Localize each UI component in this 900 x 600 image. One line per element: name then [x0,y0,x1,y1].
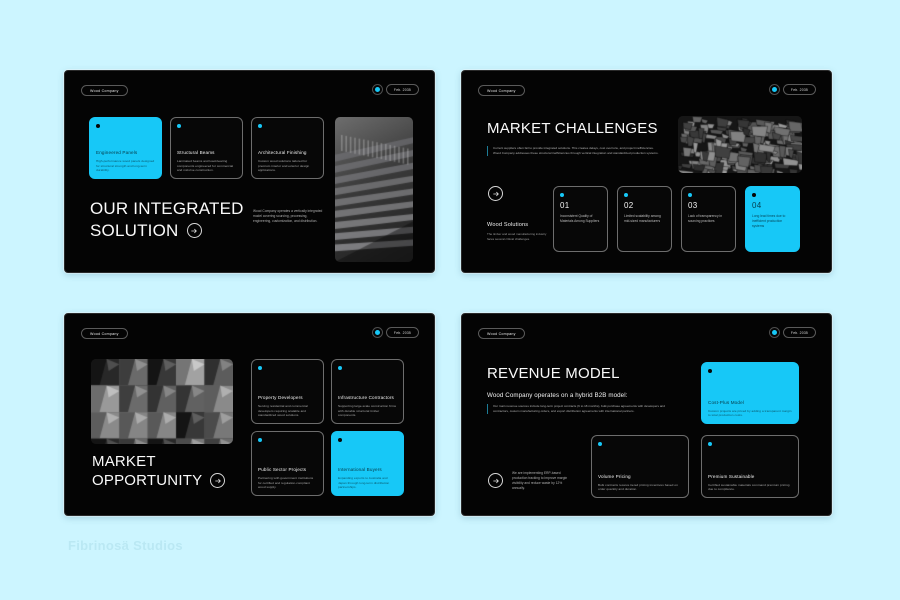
card-body: Expanding exports to Australia and Japan… [338,476,397,490]
card-title: Property Developers [258,395,317,401]
accent-dot-icon [769,327,780,338]
challenge-card-01[interactable]: 01 Inconsistent Quality of Materials Amo… [553,186,608,252]
card-property-developers[interactable]: Property Developers Serving residential … [251,359,324,424]
wood-cubes-photo [91,359,233,444]
bullet-icon [624,193,628,197]
challenge-body: Long lead times due to inefficient produ… [752,214,793,229]
architecture-photo [335,117,413,262]
arrow-right-icon[interactable] [187,223,202,238]
card-structural-beams[interactable]: Structural Beams Laminated beams and loa… [170,117,243,179]
slide-lead: Wood Company operates on a hybrid B2B mo… [487,392,628,399]
slide-quote: Current suppliers often fail to provide … [487,146,662,156]
page-title: MARKET OPPORTUNITY [92,452,225,490]
card-title: Cost-Plus Model [708,400,792,406]
slide-deck: Wood Company Feb. 2035 Engineered Panels… [64,70,840,522]
slide-market-challenges[interactable]: Wood Company Feb. 2035 MARKET CHALLENGES… [461,70,832,273]
challenge-number: 02 [624,202,665,210]
brand-chip: Wood Company [478,328,525,339]
watermark: Fibrinosä Studios [68,538,183,553]
card-title: Structural Beams [177,150,236,156]
brand-label: Wood Company [90,89,119,93]
bullet-icon [752,193,756,197]
card-international-buyers[interactable]: International Buyers Expanding exports t… [331,431,404,496]
challenge-body: Lack of transparency in sourcing practic… [688,214,729,224]
date-chip-group: Feb. 2035 [372,327,419,338]
card-body: Bulk contracts receive tiered pricing in… [598,483,682,492]
card-body: Custom wood solutions tailored for premi… [258,159,317,173]
card-body: Partnering with government institutions … [258,476,317,490]
card-title: Public Sector Projects [258,467,317,473]
date-label: Feb. 2035 [783,84,816,95]
date-chip-group: Feb. 2035 [769,84,816,95]
challenge-card-04[interactable]: 04 Long lead times due to inefficient pr… [745,186,800,252]
bullet-icon [560,193,564,197]
card-title: International Buyers [338,467,397,473]
card-cost-plus-model[interactable]: Cost-Plus Model Custom projects are pric… [701,362,799,424]
page-title-line1: MARKET [92,452,225,471]
challenge-number: 01 [560,202,601,210]
date-label: Feb. 2035 [386,327,419,338]
page-title: MARKET CHALLENGES [487,119,658,138]
page-title-line1: OUR INTEGRATED [90,198,244,220]
date-label: Feb. 2035 [783,327,816,338]
card-infrastructure-contractors[interactable]: Infrastructure Contractors Supporting la… [331,359,404,424]
brand-chip: Wood Company [478,85,525,96]
card-body: Laminated beams and load-bearing compone… [177,159,236,173]
arrow-right-icon[interactable] [210,473,225,488]
challenge-body: Inconsistent Quality of Materials Among … [560,214,601,224]
arrow-right-icon[interactable] [488,473,503,488]
accent-dot-icon [372,327,383,338]
card-title: Engineered Panels [96,150,155,156]
accent-dot-icon [372,84,383,95]
stone-wall-photo [678,116,802,173]
card-title: Architectural Finishing [258,150,317,156]
accent-dot-icon [769,84,780,95]
card-body: Supporting large-scale construction firm… [338,404,397,418]
brand-label: Wood Company [90,332,119,336]
slide-paragraph: Wood Company operates a vertically integ… [253,209,323,224]
page-title-line2: OPPORTUNITY [92,471,202,490]
brand-chip: Wood Company [81,328,128,339]
card-body: Certified sustainable materials command … [708,483,792,492]
page-title: REVENUE MODEL [487,364,620,383]
date-chip-group: Feb. 2035 [372,84,419,95]
card-volume-pricing[interactable]: Volume Pricing Bulk contracts receive ti… [591,435,689,498]
page-title: OUR INTEGRATED SOLUTION [90,198,244,242]
card-engineered-panels[interactable]: Engineered Panels High-performance wood … [89,117,162,179]
card-premium-sustainable[interactable]: Premium Sustainable Certified sustainabl… [701,435,799,498]
page-title-line2: SOLUTION [90,220,179,242]
card-public-sector-projects[interactable]: Public Sector Projects Partnering with g… [251,431,324,496]
slide-market-opportunity[interactable]: Wood Company Feb. 2035 MARKET OPPORTUNIT… [64,313,435,516]
card-title: Premium Sustainable [708,474,792,480]
arrow-right-icon[interactable] [488,186,503,201]
brand-chip: Wood Company [81,85,128,96]
bullet-icon [688,193,692,197]
card-architectural-finishing[interactable]: Architectural Finishing Custom wood solu… [251,117,324,179]
slide-footnote: We are implementing ERP-based production… [512,471,574,491]
challenge-number: 03 [688,202,729,210]
card-title: Volume Pricing [598,474,682,480]
slide-revenue-model[interactable]: Wood Company Feb. 2035 REVENUE MODEL Woo… [461,313,832,516]
date-label: Feb. 2035 [386,84,419,95]
challenge-number: 04 [752,202,793,210]
challenge-card-02[interactable]: 02 Limited scalability among mid-sized m… [617,186,672,252]
slide-quote: Our main revenue sources include long-te… [487,404,677,414]
challenge-card-03[interactable]: 03 Lack of transparency in sourcing prac… [681,186,736,252]
card-body: Serving residential and commercial devel… [258,404,317,418]
slide-our-integrated-solution[interactable]: Wood Company Feb. 2035 Engineered Panels… [64,70,435,273]
card-title: Infrastructure Contractors [338,395,397,401]
date-chip-group: Feb. 2035 [769,327,816,338]
card-body: High-performance wood panels designed fo… [96,159,155,173]
solutions-body: The timber and wood manufacturing indust… [487,232,549,241]
solutions-title: Wood Solutions [487,222,528,228]
card-body: Custom projects are priced by adding a t… [708,409,792,418]
brand-label: Wood Company [487,332,516,336]
brand-label: Wood Company [487,89,516,93]
challenge-body: Limited scalability among mid-sized manu… [624,214,665,224]
